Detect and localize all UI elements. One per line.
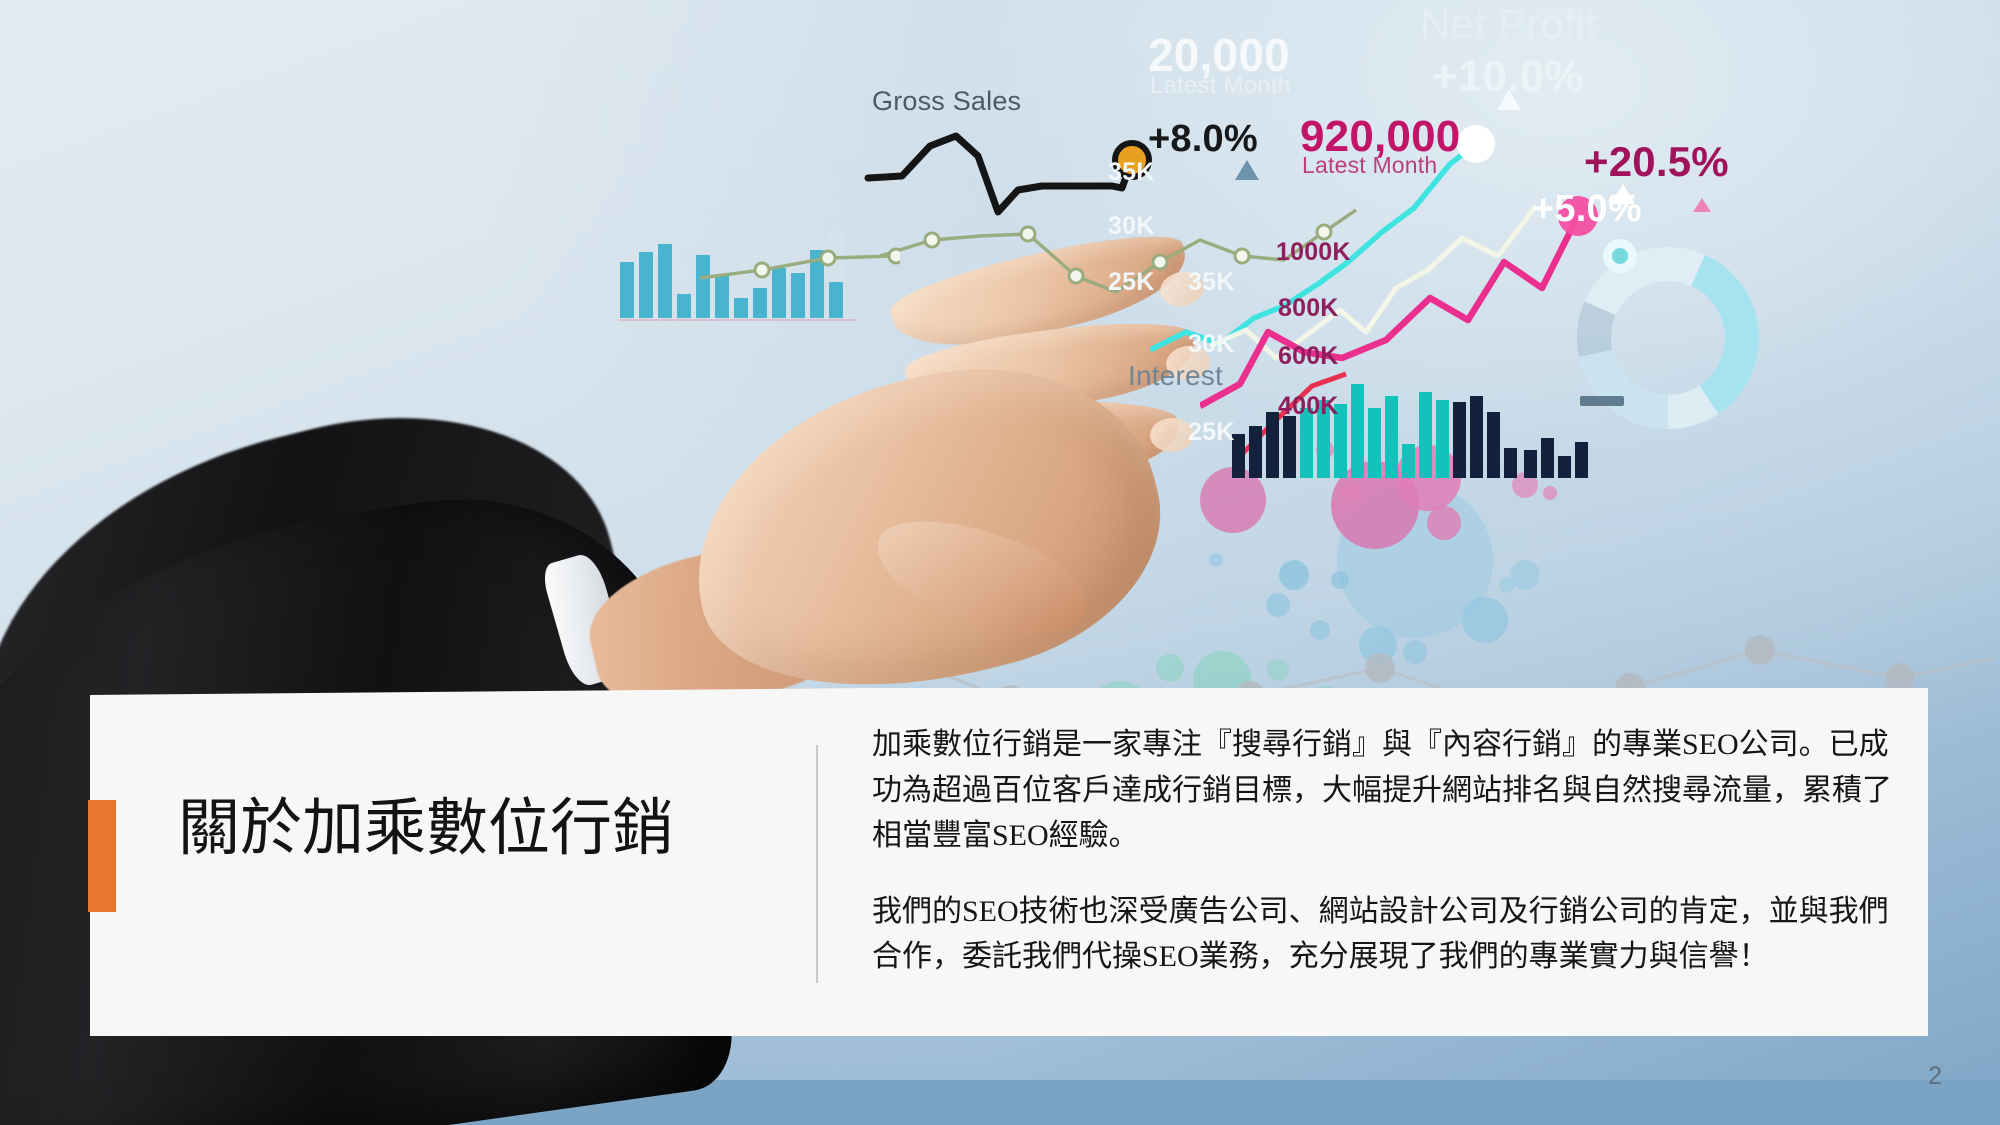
latest-month-label-2: Latest Month	[1302, 152, 1437, 179]
axis-label-600k: 600K	[1278, 342, 1339, 371]
hand	[560, 180, 1260, 700]
axis-label-25k-a: 25K	[1108, 268, 1154, 297]
page-number: 2	[1928, 1062, 1942, 1091]
body-paragraph-1: 加乘數位行銷是一家專注『搜尋行銷』與『內容行銷』的專業SEO公司。已成功為超過百…	[872, 722, 1900, 859]
pct-5: +5.0%	[1532, 188, 1642, 231]
page-title: 關於加乘數位行銷	[178, 795, 798, 864]
axis-label-30k-b: 30K	[1188, 330, 1234, 359]
interest-label: Interest	[1128, 360, 1223, 392]
body-text: 加乘數位行銷是一家專注『搜尋行銷』與『內容行銷』的專業SEO公司。已成功為超過百…	[872, 722, 1900, 980]
slide: Gross Sales Interest Net Profit 20,000 L…	[0, 0, 2000, 1125]
pct-205: +20.5%	[1584, 138, 1729, 186]
pct-10: +10.0%	[1432, 52, 1584, 102]
axis-label-1000k: 1000K	[1276, 238, 1351, 267]
axis-label-800k: 800K	[1278, 294, 1339, 323]
axis-label-35k-b: 35K	[1188, 268, 1234, 297]
axis-label-35k-a: 35K	[1108, 158, 1154, 187]
net-profit-label: Net Profit	[1420, 0, 1597, 48]
gross-sales-label: Gross Sales	[872, 86, 1021, 117]
axis-label-400k: 400K	[1278, 392, 1339, 421]
vertical-divider	[816, 745, 818, 983]
latest-month-label: Latest Month	[1150, 72, 1291, 100]
pct-8: +8.0%	[1148, 118, 1258, 161]
body-paragraph-2: 我們的SEO技術也深受廣告公司、網站設計公司及行銷公司的肯定，並與我們合作，委託…	[872, 889, 1900, 980]
axis-label-25k-b: 25K	[1188, 418, 1234, 447]
orange-accent-bar	[88, 800, 116, 912]
axis-label-30k-a: 30K	[1108, 212, 1154, 241]
